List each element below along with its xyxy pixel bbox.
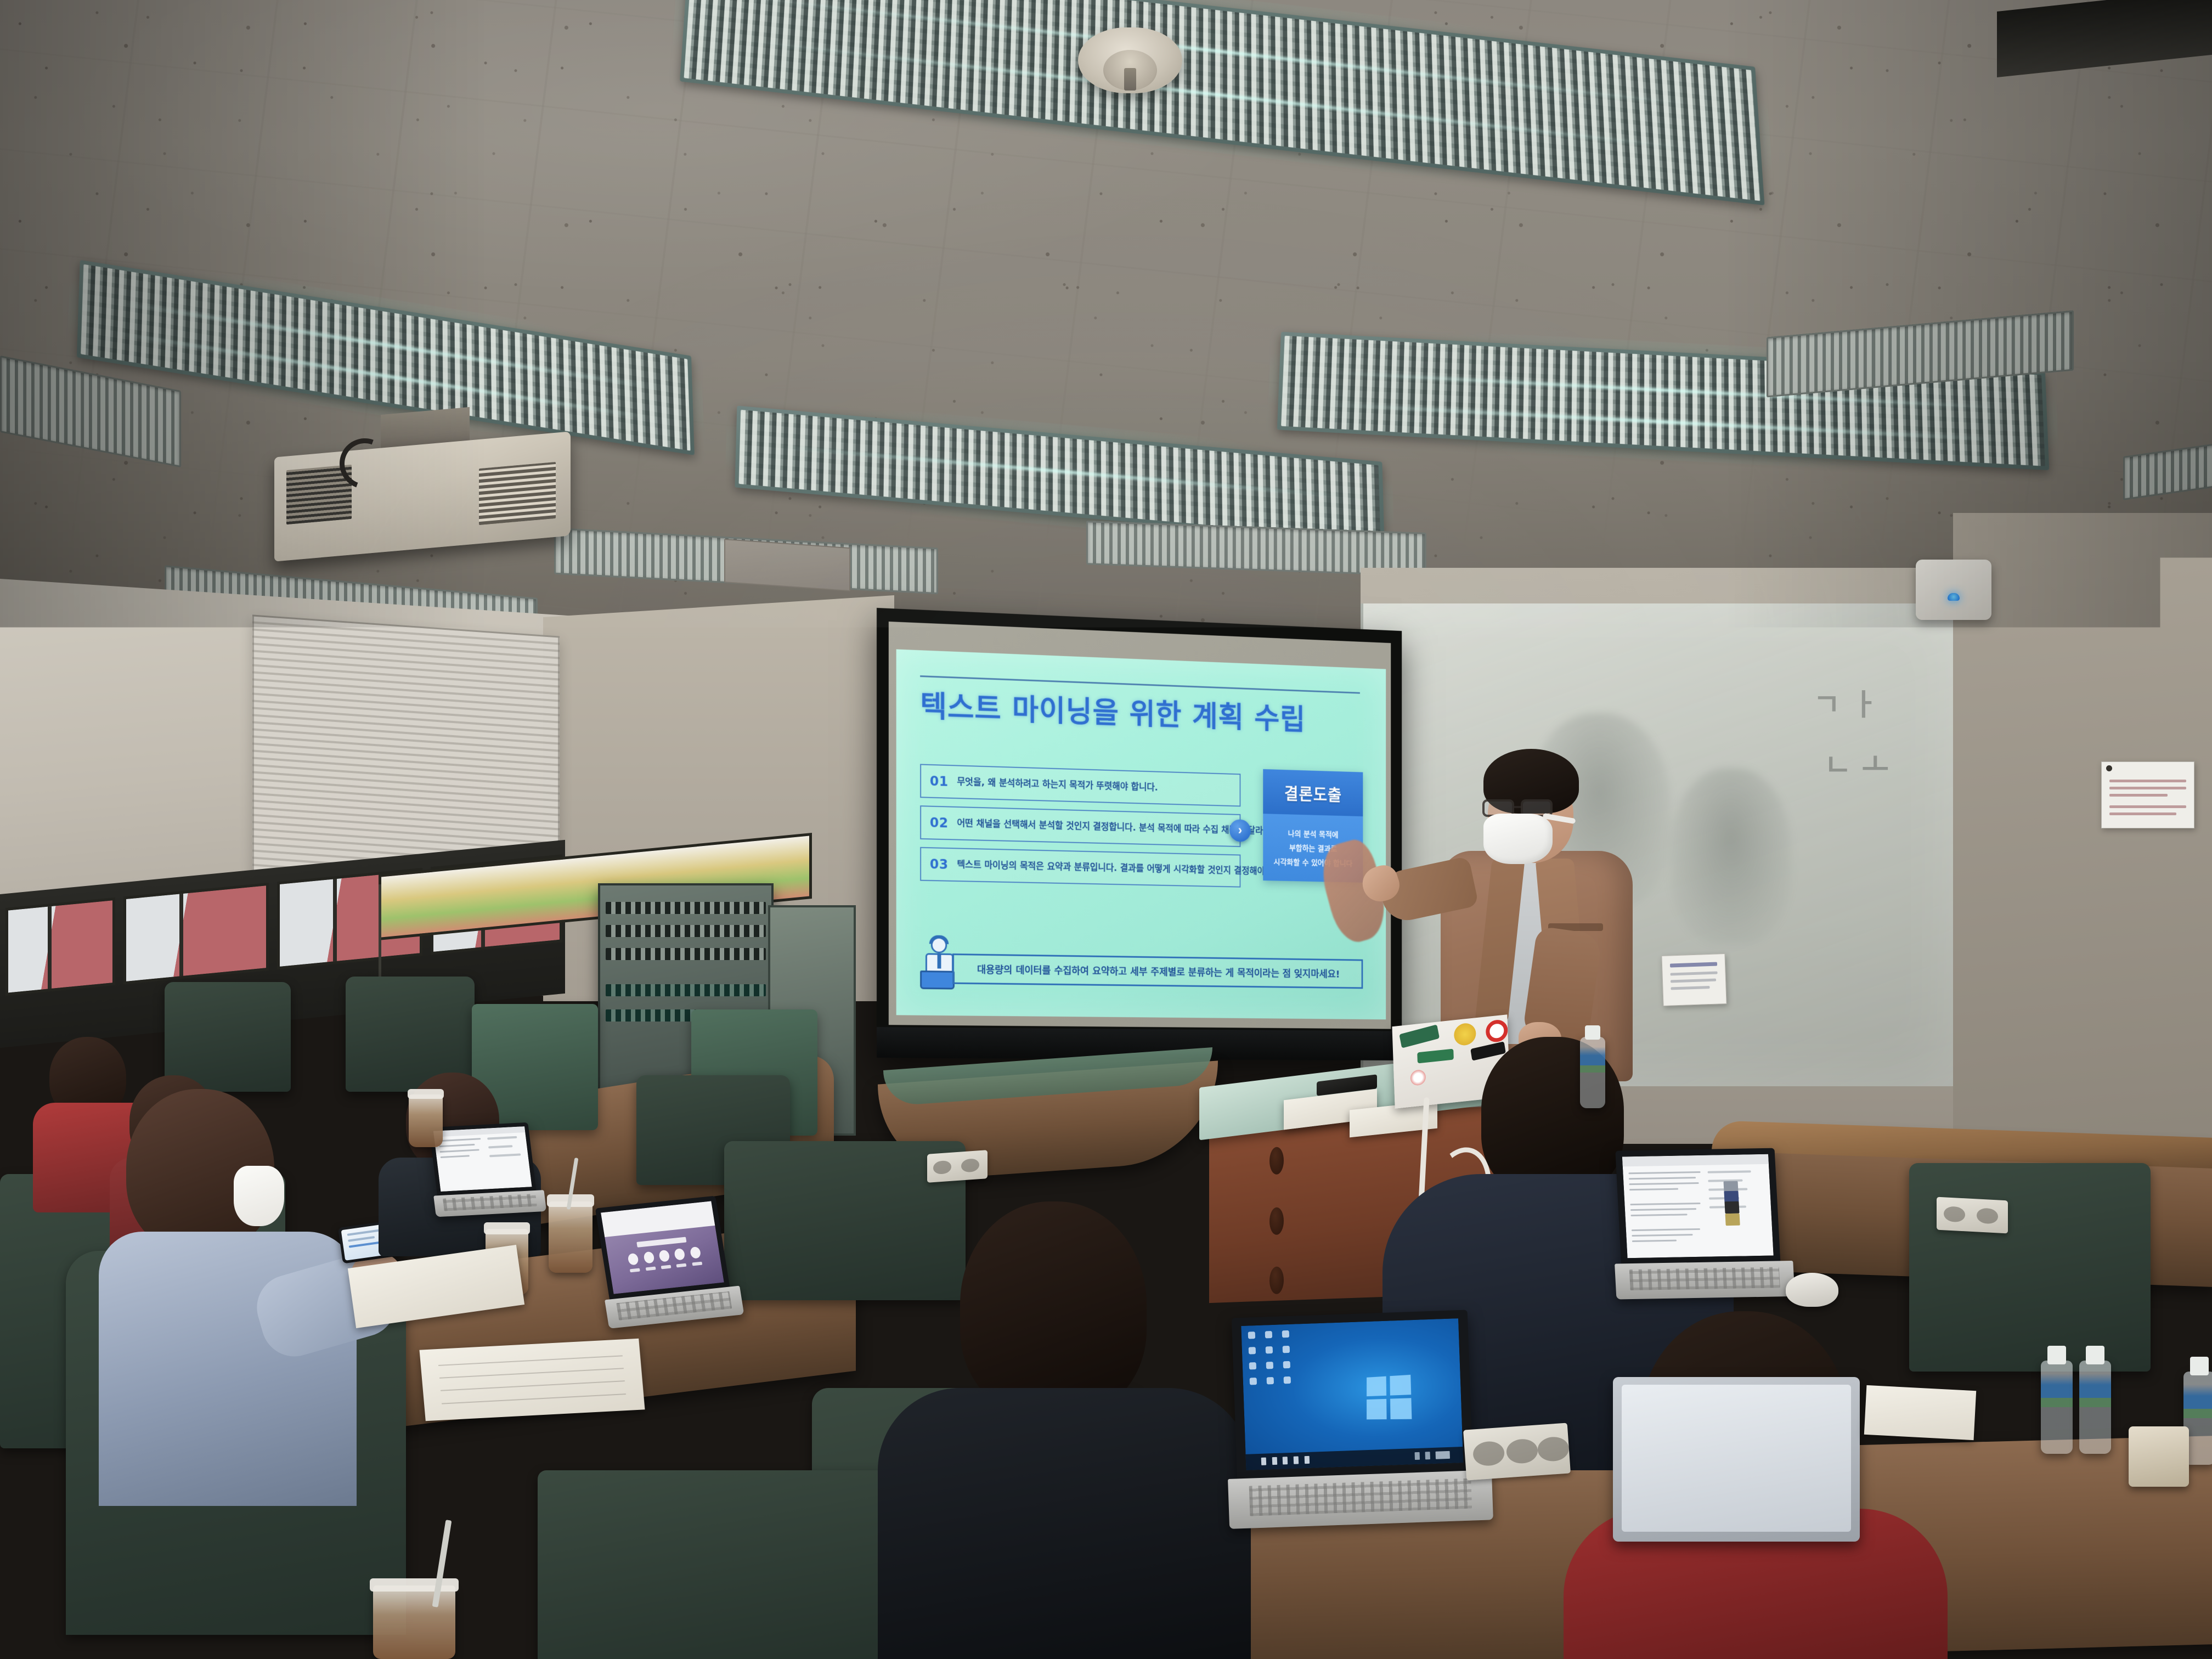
smoke-detector-icon <box>1078 27 1182 93</box>
notice-line <box>1671 979 1716 983</box>
notice-line <box>2109 794 2168 797</box>
whiteboard-scribble: ㄴ ㅗ <box>1824 741 1889 784</box>
slide-content: 텍스트 마이닝을 위한 계획 수립 01 무엇을, 왜 분석하려고 하는지 목적… <box>896 649 1386 1019</box>
wall-notice-center <box>1661 953 1726 1006</box>
window-pane <box>5 898 115 996</box>
face-mask-icon <box>1483 814 1553 864</box>
slide-step-row: 03 텍스트 마이닝의 목적은 요약과 분류입니다. 결과를 어떻게 시각화할 … <box>920 847 1240 888</box>
rack-slot <box>606 948 766 960</box>
chevron-right-icon: › <box>1229 819 1251 842</box>
slide-steps-list: 01 무엇을, 왜 분석하려고 하는지 목적가 뚜렷해야 합니다. 02 어떤 … <box>920 764 1240 895</box>
rack-slot <box>606 984 766 996</box>
lecture-hall-photo: ㄱ ㅏ ㄴ ㅗ 텍스트 마이닝을 위한 계획 수립 <box>0 0 2212 1659</box>
notice-line <box>2109 812 2176 815</box>
slide-callout: 대용량의 데이터를 수집하여 요약하고 세부 주제별로 분류하는 게 목적이라는… <box>952 953 1363 989</box>
slide-callout-text: 대용량의 데이터를 수집하여 요약하고 세부 주제별로 분류하는 게 목적이라는… <box>977 962 1340 980</box>
projection-screen: 텍스트 마이닝을 위한 계획 수립 01 무엇을, 왜 분석하려고 하는지 목적… <box>877 608 1402 1060</box>
whiteboard-scribble: ㄱ ㅏ <box>1813 680 1878 724</box>
notice-line <box>1671 986 1709 990</box>
audience-shadow <box>1671 768 1791 944</box>
notice-line <box>2109 805 2186 808</box>
wall-notice-right <box>2101 761 2194 828</box>
projector-vent-right <box>479 462 556 525</box>
notice-line <box>2109 787 2186 789</box>
illustration-tie <box>938 955 941 969</box>
conclusion-heading: 결론도출 <box>1284 780 1342 805</box>
notice-heading <box>1670 962 1717 968</box>
illustration-laptop-icon <box>920 970 955 990</box>
step-text: 텍스트 마이닝의 목적은 요약과 분류입니다. 결과를 어떻게 시각화할 것인지… <box>957 859 1294 877</box>
ceiling-access-panel <box>724 539 850 591</box>
foreground-desk-silhouette <box>0 1470 417 1659</box>
pin-icon <box>2106 765 2112 771</box>
ceiling-projector <box>274 444 571 549</box>
presentation-slide: 텍스트 마이닝을 위한 계획 수립 01 무엇을, 왜 분석하려고 하는지 목적… <box>896 649 1386 1019</box>
step-number: 03 <box>930 856 949 872</box>
slide-step-row: 02 어떤 채널을 선택해서 분석할 것인지 결정합니다. 분석 목적에 따라 … <box>920 805 1240 847</box>
window-pane <box>123 883 269 985</box>
conclusion-heading-bar: 결론도출 <box>1263 769 1363 816</box>
foreground-chair-silhouette <box>817 1536 1158 1659</box>
notice-line <box>2109 780 2186 782</box>
wall-far-right <box>1953 513 2212 1171</box>
wifi-access-point <box>1916 560 1991 620</box>
step-number: 01 <box>930 774 949 789</box>
rack-slot <box>606 902 766 914</box>
notice-line <box>1671 972 1718 976</box>
wifi-led-icon <box>1948 593 1960 601</box>
step-number: 02 <box>930 815 949 831</box>
step-text: 무엇을, 왜 분석하려고 하는지 목적가 뚜렷해야 합니다. <box>957 776 1158 793</box>
screen-surface: 텍스트 마이닝을 위한 계획 수립 01 무엇을, 왜 분석하려고 하는지 목적… <box>889 622 1391 1029</box>
rack-slot <box>606 925 766 937</box>
illustration-head <box>931 937 947 953</box>
conclusion-line: 나의 분석 목적에 <box>1288 828 1339 840</box>
slide-title: 텍스트 마이닝을 위한 계획 수립 <box>920 682 1306 738</box>
slide-step-row: 01 무엇을, 왜 분석하려고 하는지 목적가 뚜렷해야 합니다. <box>920 764 1240 806</box>
